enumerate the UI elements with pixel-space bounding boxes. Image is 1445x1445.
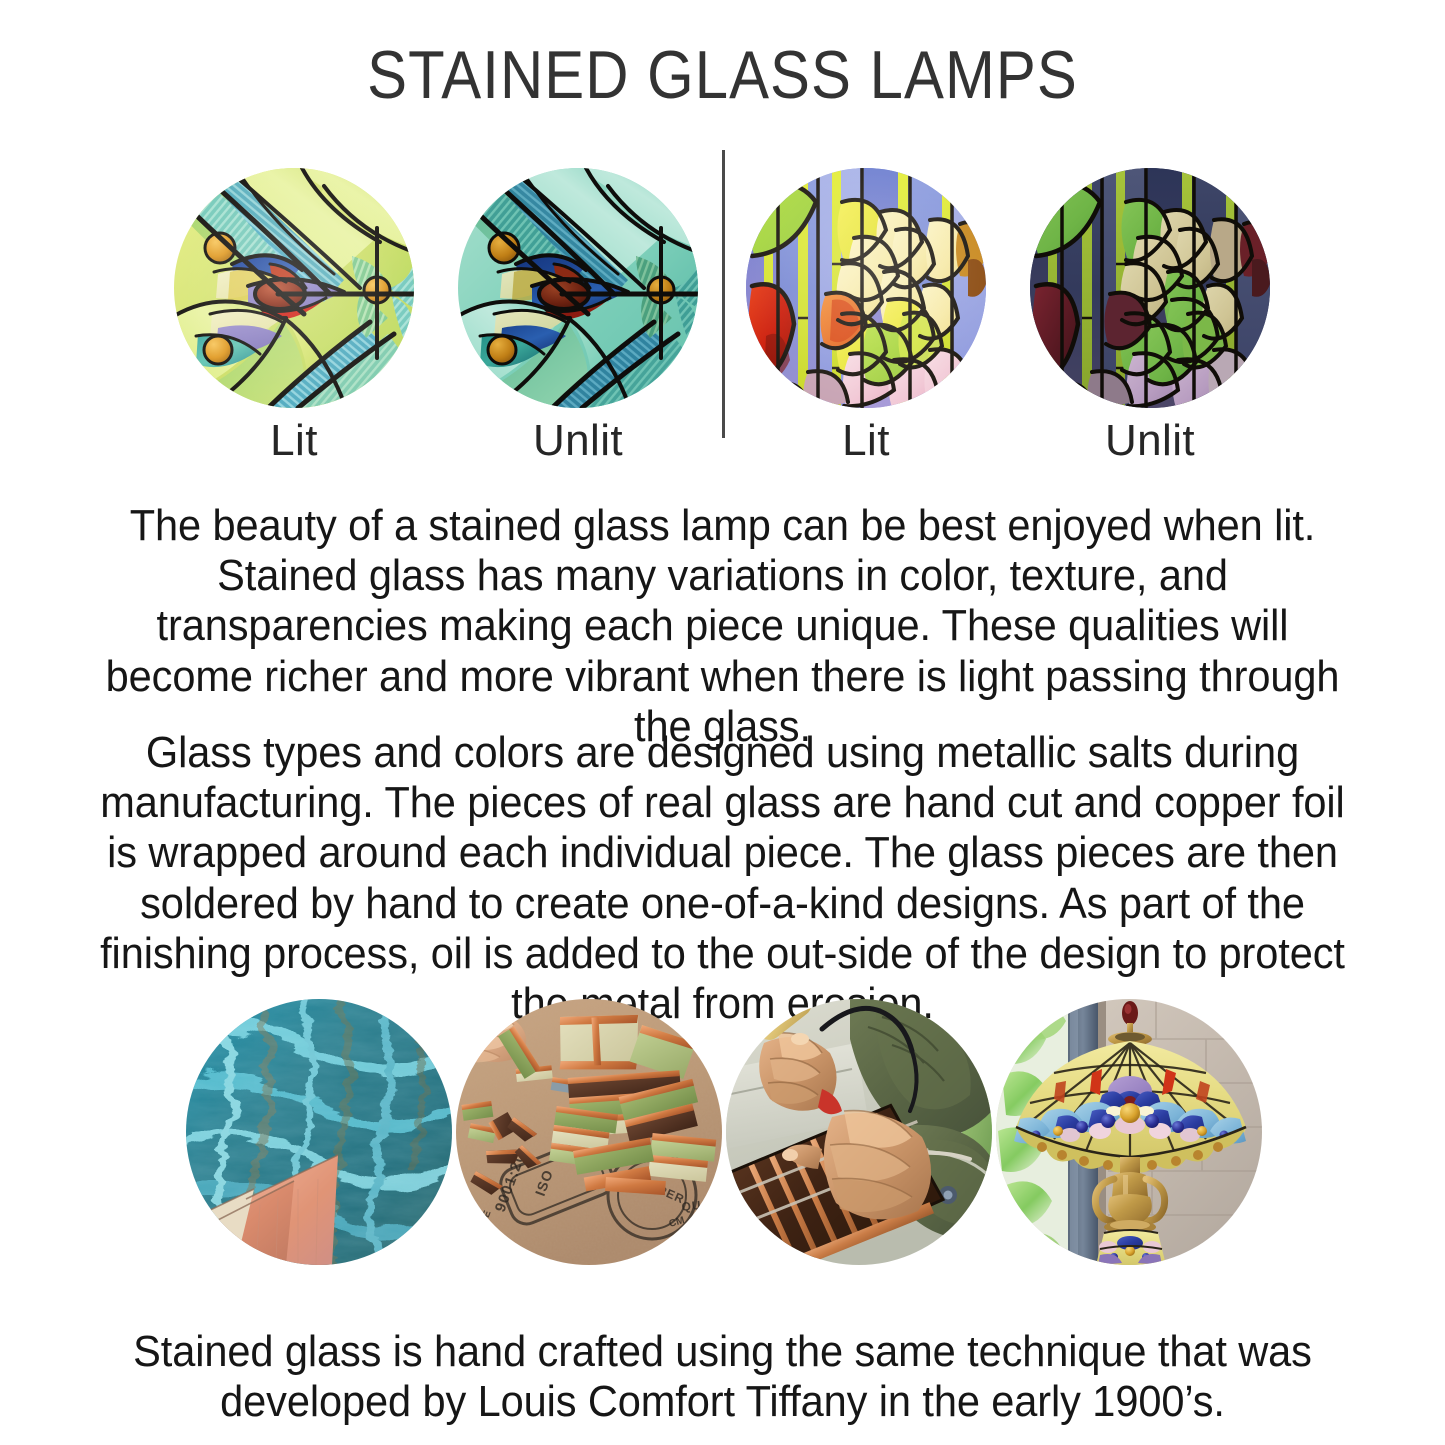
stained-glass-floral-bamboo-unlit-image [1030, 168, 1270, 408]
comparison-item-label: Unlit [1018, 418, 1282, 464]
comparison-item-label: Lit [734, 418, 998, 464]
comparison-item-2: Lit [734, 168, 998, 464]
lit-unlit-comparison-strip: Lit [0, 150, 1445, 490]
intro-paragraph: The beauty of a stained glass lamp can b… [82, 501, 1363, 752]
process-image-strip: 9001:20 ISO CE TY • SUPER QU CM [0, 999, 1445, 1267]
process-item-3 [996, 999, 1262, 1265]
stained-glass-fan-pattern-unlit-image [458, 168, 698, 408]
process-paragraph: Glass types and colors are designed usin… [82, 728, 1363, 1029]
comparison-item-1: Unlit [446, 168, 710, 464]
blue-marbled-glass-sheet-image [186, 999, 452, 1265]
stained-glass-fan-pattern-lit-image [174, 168, 414, 408]
comparison-item-label: Unlit [446, 418, 710, 464]
hand-soldering-glass-image [726, 999, 992, 1265]
process-item-0 [186, 999, 452, 1265]
closing-paragraph: Stained glass is hand crafted using the … [82, 1327, 1363, 1427]
comparison-divider [722, 150, 725, 438]
comparison-item-0: Lit [162, 168, 426, 464]
process-item-1: 9001:20 ISO CE TY • SUPER QU CM [456, 999, 722, 1265]
page-title: STAINED GLASS LAMPS [87, 41, 1359, 109]
comparison-item-label: Lit [162, 418, 426, 464]
comparison-item-3: Unlit [1018, 168, 1282, 464]
copper-foiled-glass-pieces-image: 9001:20 ISO CE TY • SUPER QU CM [456, 999, 722, 1265]
finished-tiffany-lamp-image [996, 999, 1262, 1265]
stained-glass-floral-bamboo-lit-image [746, 168, 986, 408]
process-item-2 [726, 999, 992, 1265]
